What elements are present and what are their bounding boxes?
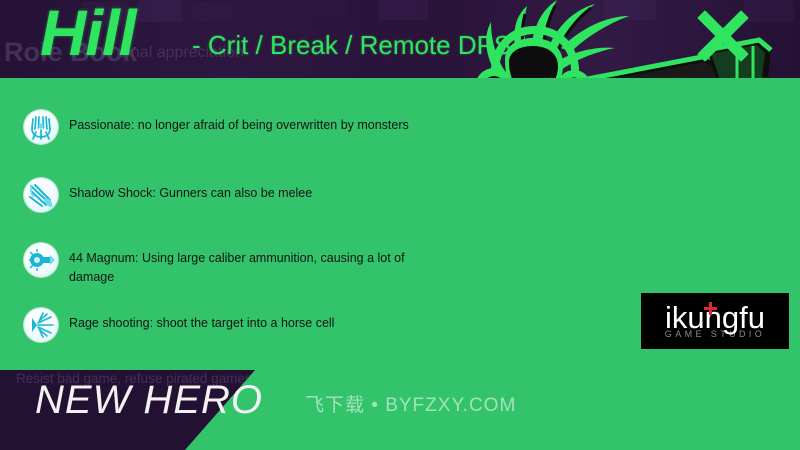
skill-description: Passionate: no longer afraid of being ov… <box>69 110 409 135</box>
new-hero-label: NEW HERO <box>35 378 263 423</box>
skill-description: Rage shooting: shoot the target into a h… <box>69 308 334 333</box>
skill-description: Shadow Shock: Gunners can also be melee <box>69 178 312 203</box>
skill-item-passionate[interactable]: Passionate: no longer afraid of being ov… <box>24 110 409 144</box>
magnum-bullet-icon <box>24 243 58 277</box>
skill-item-rage-shooting[interactable]: Rage shooting: shoot the target into a h… <box>24 308 334 342</box>
close-icon[interactable] <box>692 8 754 64</box>
skill-item-shadow-shock[interactable]: Shadow Shock: Gunners can also be melee <box>24 178 312 212</box>
skill-item-44-magnum[interactable]: 44 Magnum: Using large caliber ammunitio… <box>24 243 419 288</box>
hero-subtitle: - Crit / Break / Remote DPS <box>192 30 511 61</box>
skill-description: 44 Magnum: Using large caliber ammunitio… <box>69 243 419 288</box>
page-title: Hill <box>40 0 136 70</box>
muzzle-flash-icon <box>24 308 58 342</box>
hands-burst-icon <box>24 110 58 144</box>
site-watermark: 飞下载 • BYFZXY.COM <box>305 390 516 417</box>
ghost-tile <box>192 2 232 22</box>
ghost-tile <box>138 0 182 22</box>
plus-icon <box>704 302 717 315</box>
hero-showcase-screen: Role Book / nal appreciation Resist bad … <box>0 0 800 450</box>
studio-logo: ikungfu GAME STUDIO <box>641 293 789 349</box>
shadow-fan-icon <box>24 178 58 212</box>
ghost-tile <box>300 0 348 18</box>
